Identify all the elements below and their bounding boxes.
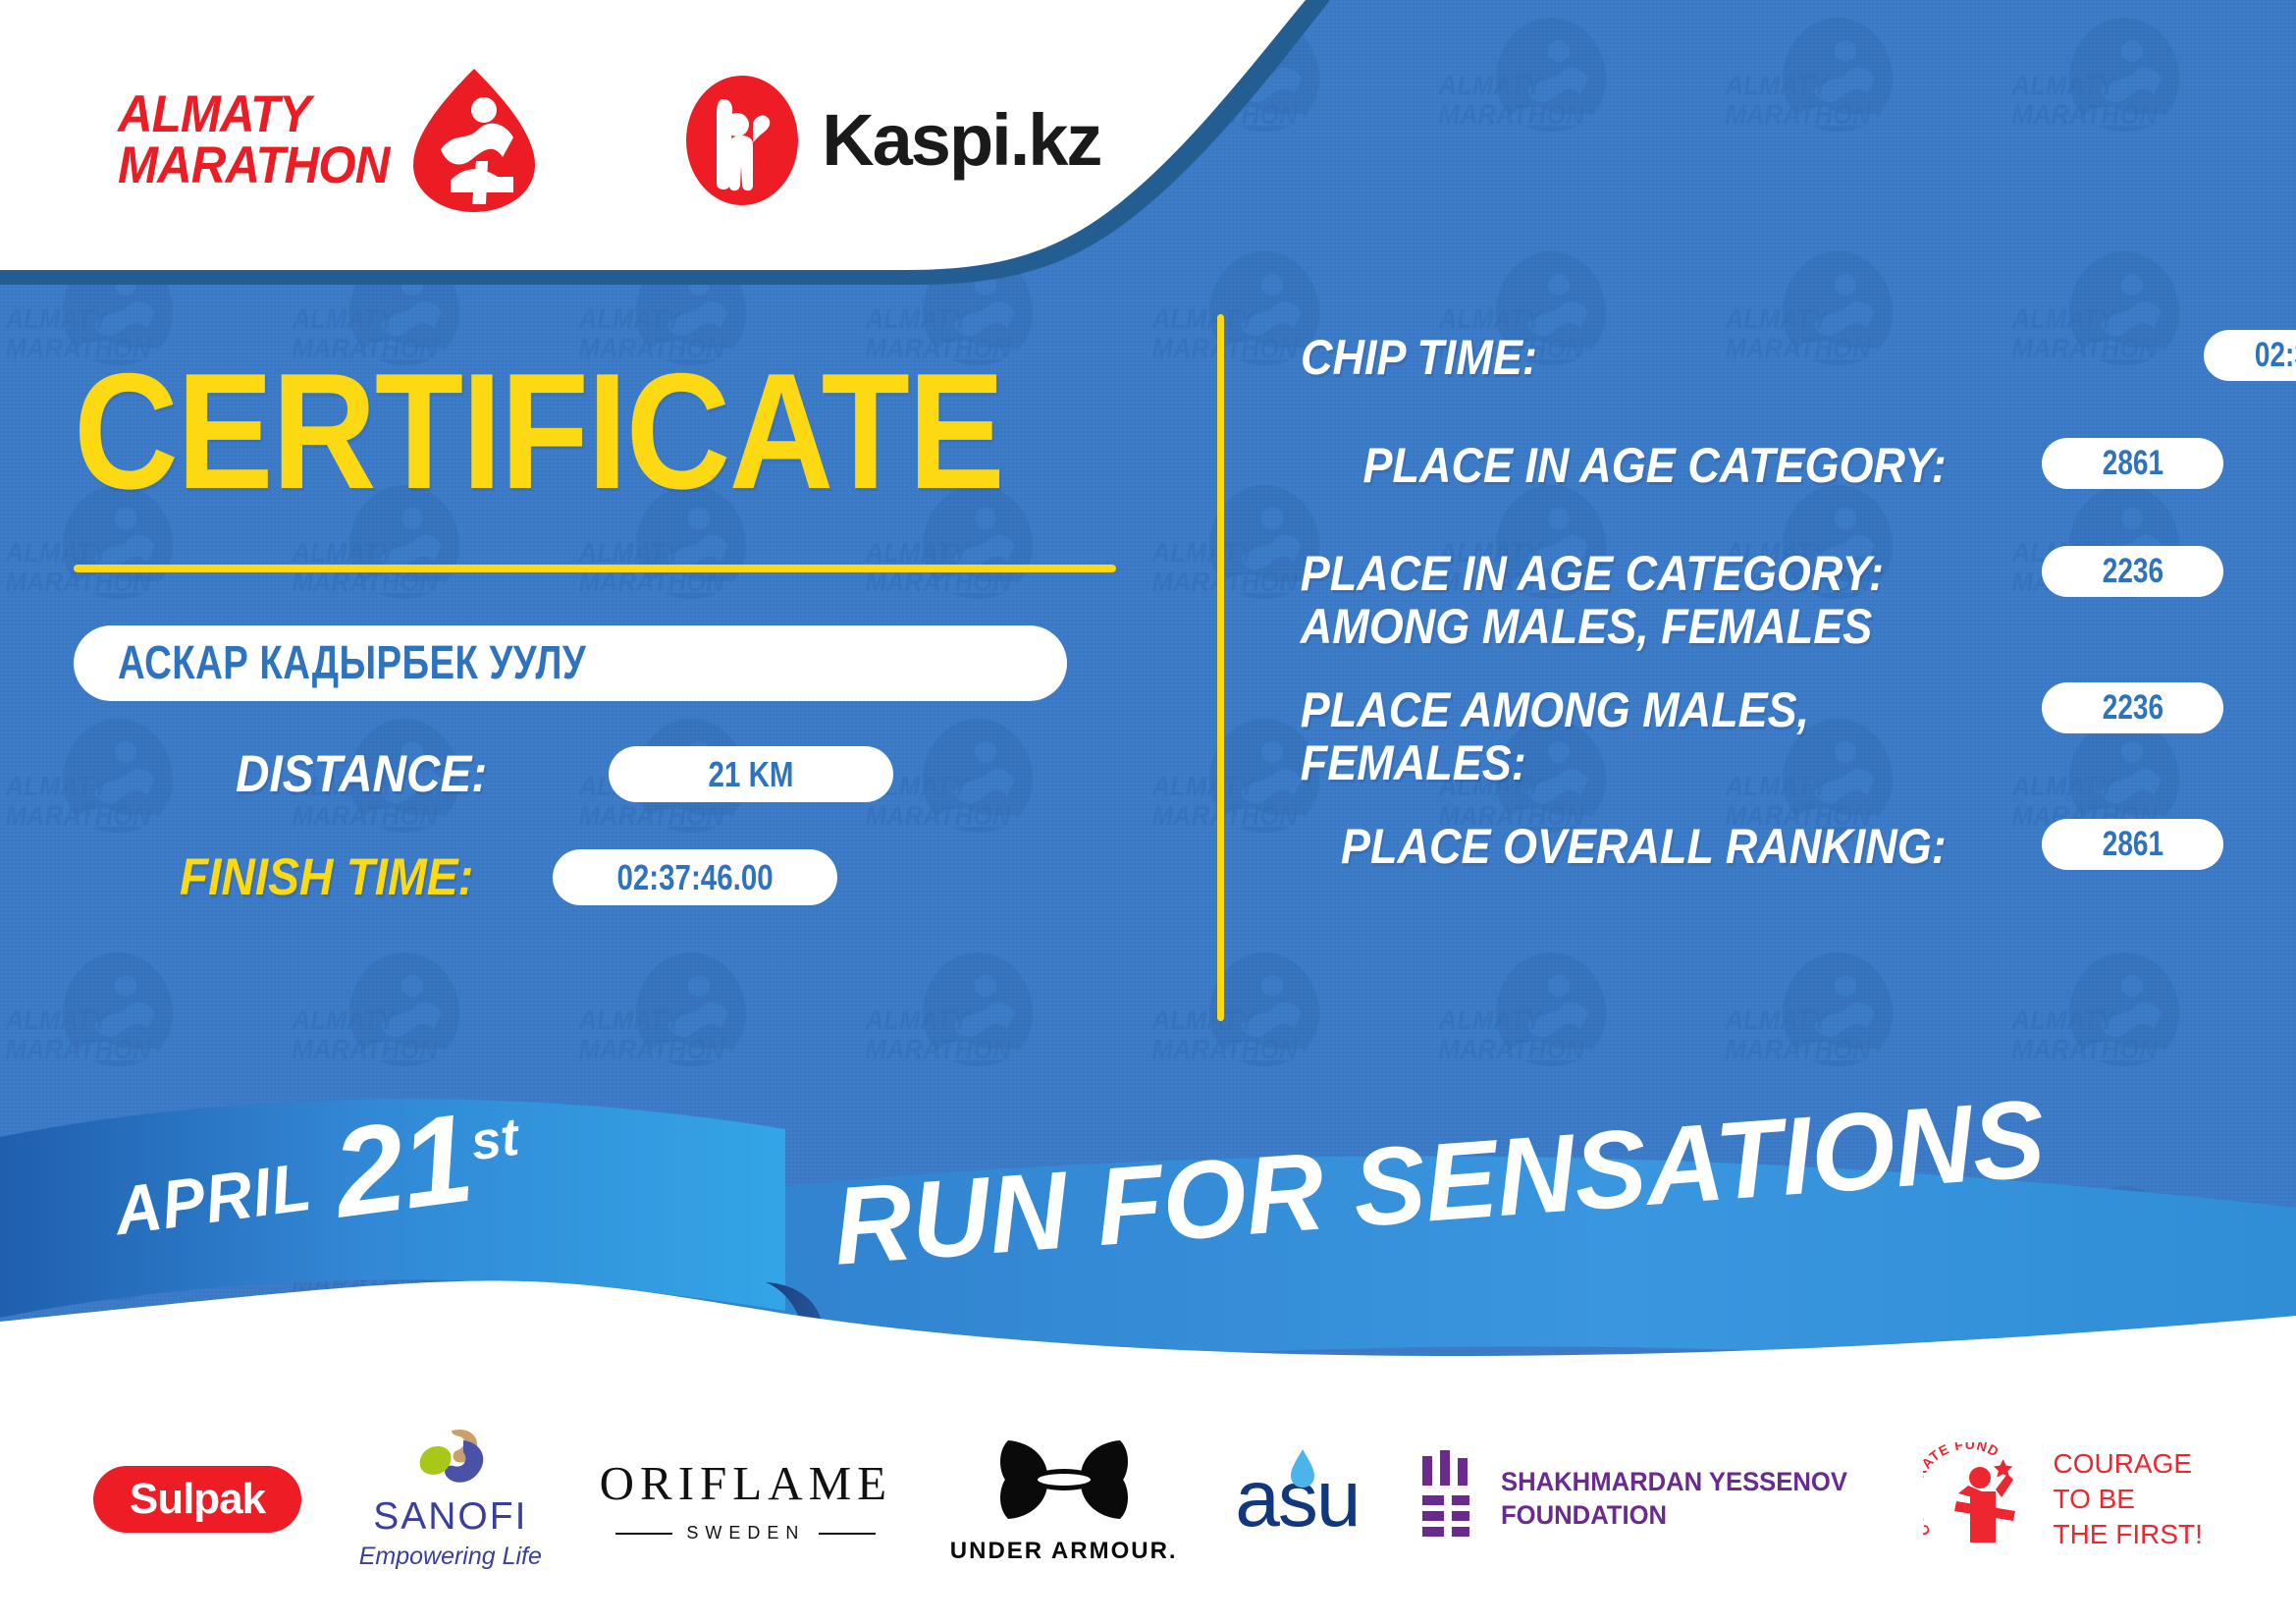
participant-name-field: АСКАР КАДЫРБЕК УУЛУ [74,625,1067,701]
kaspi-person-icon [684,74,800,207]
chip-time-value: 02:34:42.00 [2255,336,2296,375]
oriflame-tagline: SWEDEN [686,1523,805,1543]
sponsor-oriflame: ORIFLAME SWEDEN [600,1455,892,1543]
sponsor-asu: asu [1235,1453,1359,1545]
certificate-canvas: ALMATY MARATHON ALMATY MARATHON [0,0,2296,1624]
almaty-marathon-line2: MARATHON [118,140,389,191]
place-among-gender-value: 2236 [2102,688,2163,728]
certificate-left-column: CERTIFICATE АСКАР КАДЫРБЕК УУЛУ DISTANCE… [74,349,1207,907]
place-overall-value-field: 2861 [2042,819,2223,870]
distance-value: 21 KM [709,754,794,795]
yessenov-line1: SHAKHMARDAN YESSENOV [1501,1466,1847,1499]
kaspi-logo: Kaspi.kz [684,74,1100,207]
place-overall-label: PLACE OVERALL RANKING: [1281,813,1966,874]
sanofi-mark-icon [408,1429,493,1489]
place-age-category-gender-value: 2236 [2102,552,2163,591]
sanofi-wordmark: SANOFI [373,1495,527,1539]
page-title: CERTIFICATE [74,349,1071,514]
asu-drop-icon [1290,1449,1315,1493]
distance-label: DISTANCE: [236,744,571,804]
oriflame-rule-left [615,1533,672,1535]
sponsor-yessenov-foundation: SHAKHMARDAN YESSENOV FOUNDATION [1416,1450,1866,1549]
distance-value-field: 21 KM [609,746,893,802]
place-age-category-gender-value-field: 2236 [2042,546,2223,597]
sanofi-tagline: Empowering Life [359,1543,542,1571]
result-row-place-among-gender: PLACE AMONG MALES, FEMALES: 2236 [1281,677,2223,789]
result-row-place-age-category: PLACE IN AGE CATEGORY: 2861 [1281,432,2223,516]
kaspi-wordmark: Kaspi.kz [822,98,1100,182]
place-age-category-label: PLACE IN AGE CATEGORY: [1281,432,1966,493]
results-list: CHIP TIME: 02:34:42.00 PLACE IN AGE CATE… [1281,324,2223,921]
yessenov-mark-icon [1416,1450,1475,1549]
finish-time-value: 02:37:46.00 [616,857,773,898]
title-underline [74,565,1116,572]
sulpak-logo: Sulpak [93,1466,301,1533]
sponsor-under-armour: UNDER ARMOUR. [950,1435,1178,1565]
place-age-category-gender-label-line1: PLACE IN AGE CATEGORY: [1301,548,1966,601]
sponsor-courage-fund: CORPORATE FUND COURAGE TO BE [1923,1442,2202,1557]
oriflame-wordmark: ORIFLAME [600,1455,892,1511]
distance-row: DISTANCE: 21 KM [74,744,1207,804]
place-among-gender-label-line1: PLACE AMONG MALES, [1301,684,1966,737]
oriflame-subline: SWEDEN [600,1523,892,1543]
under-armour-icon [992,1435,1136,1530]
almaty-marathon-wordmark: ALMATY MARATHON [118,89,389,191]
event-day-ordinal: st [467,1107,522,1173]
certificate-body: CERTIFICATE АСКАР КАДЫРБЕК УУЛУ DISTANCE… [0,295,2296,1139]
chip-time-value-field: 02:34:42.00 [2204,330,2296,381]
sponsor-sanofi: SANOFI Empowering Life [359,1429,542,1571]
yessenov-line2: FOUNDATION [1501,1499,1847,1533]
place-age-category-gender-label-line2: AMONG MALES, FEMALES [1301,601,1966,654]
place-age-category-value: 2861 [2102,444,2163,483]
courage-runner-icon: CORPORATE FUND [1923,1442,2039,1557]
place-age-category-gender-label: PLACE IN AGE CATEGORY: AMONG MALES, FEMA… [1281,540,1966,653]
sulpak-wordmark: Sulpak [130,1475,265,1524]
column-divider [1217,314,1224,1021]
participant-name-value: АСКАР КАДЫРБЕК УУЛУ [118,636,586,690]
event-day: 21 [328,1108,476,1227]
place-among-gender-label: PLACE AMONG MALES, FEMALES: [1281,677,1966,789]
place-among-gender-value-field: 2236 [2042,682,2223,733]
oriflame-rule-right [819,1533,876,1535]
result-row-chip-time: CHIP TIME: 02:34:42.00 [1281,324,2223,408]
place-overall-value: 2861 [2102,825,2163,864]
finish-time-row: FINISH TIME: 02:37:46.00 [74,847,1207,907]
result-row-place-overall: PLACE OVERALL RANKING: 2861 [1281,813,2223,897]
yessenov-wordmark: SHAKHMARDAN YESSENOV FOUNDATION [1501,1466,1847,1533]
header-panel: ALMATY MARATHON [0,0,1394,295]
courage-wordmark: COURAGE TO BE THE FIRST! [2053,1446,2202,1551]
finish-time-value-field: 02:37:46.00 [553,849,837,905]
runner-drop-icon [411,67,537,214]
result-row-place-age-category-gender: PLACE IN AGE CATEGORY: AMONG MALES, FEMA… [1281,540,2223,653]
courage-line2: TO BE [2053,1482,2202,1517]
courage-line1: COURAGE [2053,1446,2202,1482]
almaty-marathon-logo: ALMATY MARATHON [118,67,537,214]
finish-time-label: FINISH TIME: [180,847,515,907]
under-armour-wordmark: UNDER ARMOUR. [950,1538,1178,1565]
courage-line3: THE FIRST! [2053,1517,2202,1552]
chip-time-label: CHIP TIME: [1301,324,2113,385]
almaty-marathon-line1: ALMATY [118,89,389,140]
sponsor-sulpak: Sulpak [93,1466,301,1533]
place-age-category-value-field: 2861 [2042,438,2223,489]
sponsor-strip: Sulpak SANOFI Empowering Life ORIFLAME S… [0,1375,2296,1624]
place-among-gender-label-line2: FEMALES: [1301,737,1966,790]
